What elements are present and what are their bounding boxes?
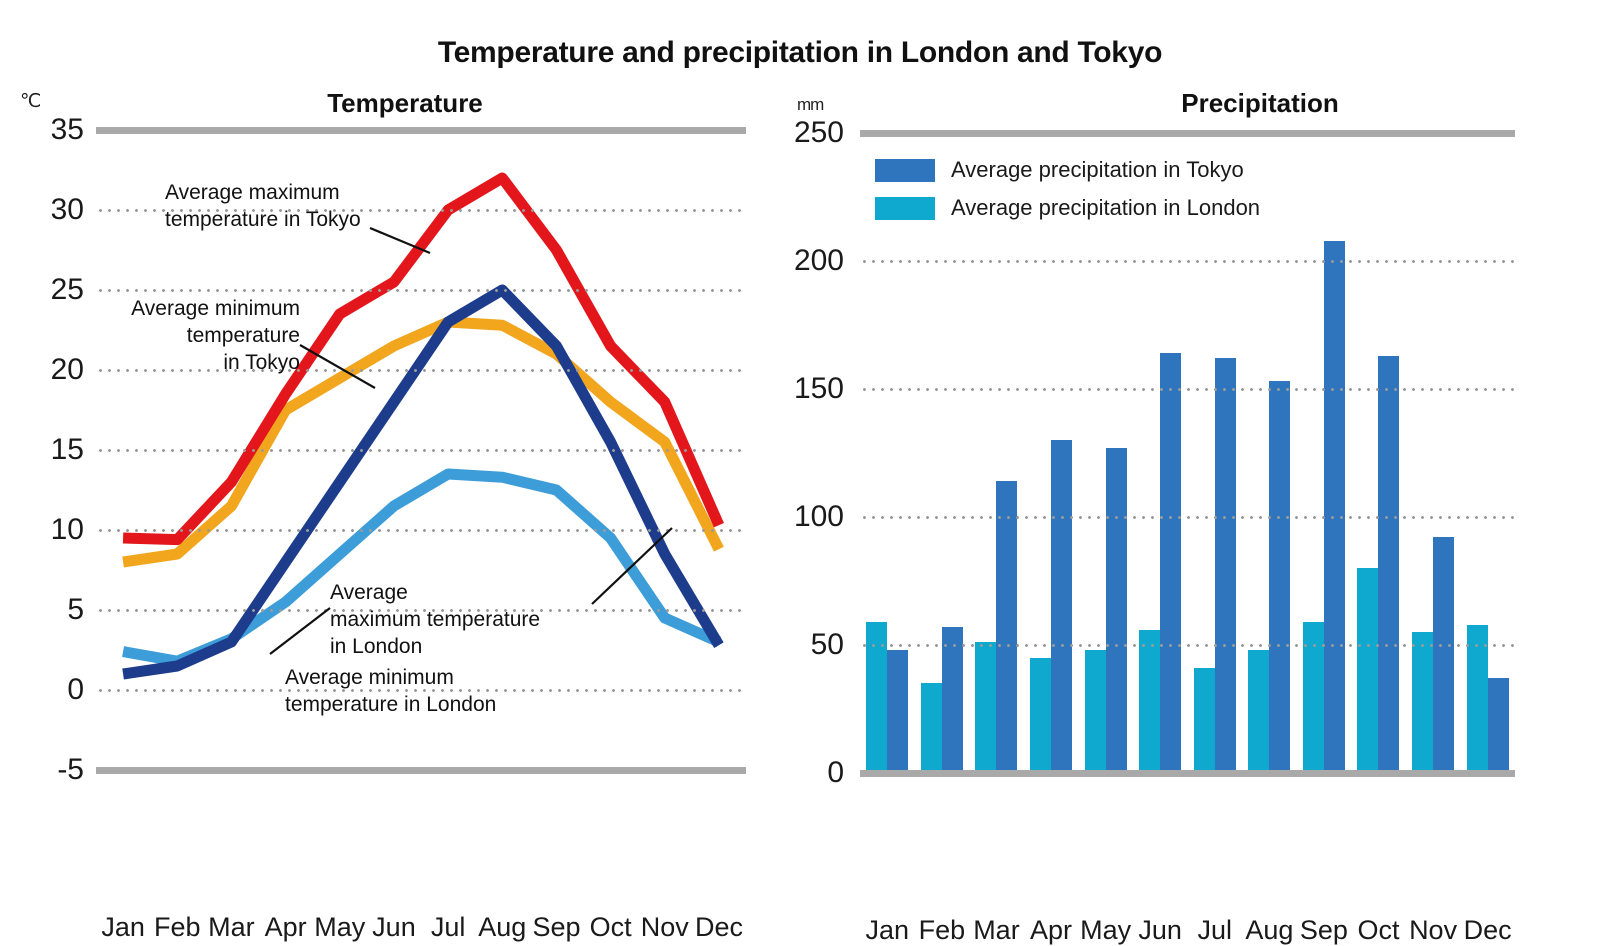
- bar-tokyo: [996, 481, 1017, 773]
- y-axis-tick-label: 150: [748, 372, 844, 406]
- precipitation-bars: [860, 133, 1515, 773]
- bar-london: [1139, 630, 1160, 773]
- x-axis-tick-label: Jul: [1187, 915, 1242, 946]
- bar-london: [975, 642, 996, 773]
- bar-london: [1030, 658, 1051, 773]
- y-axis-tick-label: 30: [10, 193, 84, 227]
- gridline: [96, 529, 746, 532]
- y-axis-tick-label: 0: [748, 756, 844, 790]
- y-axis-tick-label: 25: [10, 273, 84, 307]
- y-axis-tick-label: 0: [10, 673, 84, 707]
- x-axis-tick-label: Nov: [1406, 915, 1461, 946]
- gridline: [96, 449, 746, 452]
- x-axis-tick-label: Apr: [1024, 915, 1079, 946]
- x-axis-tick-label: Jun: [367, 912, 421, 943]
- y-axis-tick-label: 250: [748, 116, 844, 150]
- y-axis-tick-label: 20: [10, 353, 84, 387]
- x-axis-tick-label: Feb: [915, 915, 970, 946]
- x-axis-tick-label: Sep: [1297, 915, 1352, 946]
- gridline: [860, 260, 1515, 263]
- x-axis-tick-label: Jul: [421, 912, 475, 943]
- x-axis-tick-label: Apr: [259, 912, 313, 943]
- bar-tokyo: [942, 627, 963, 773]
- bar-london: [1194, 668, 1215, 773]
- bar-group: [1133, 133, 1188, 773]
- climate-chart-page: Temperature and precipitation in London …: [0, 0, 1600, 900]
- bar-group: [1024, 133, 1079, 773]
- axis-rule: [96, 127, 746, 134]
- precipitation-panel: mm Precipitation Average precipitation i…: [790, 0, 1600, 900]
- annotation-tokyo-max: Average maximum temperature in Tokyo: [165, 180, 361, 234]
- temperature-panel: ℃ Temperature JanFebMarAprMayJunJulAugSe…: [0, 0, 800, 900]
- bar-london: [921, 683, 942, 773]
- bar-tokyo: [1378, 356, 1399, 773]
- x-axis-tick-label: Mar: [969, 915, 1024, 946]
- x-axis-tick-label: Mar: [204, 912, 258, 943]
- bar-london: [1085, 650, 1106, 773]
- bar-london: [1357, 568, 1378, 773]
- x-axis-tick-label: Nov: [638, 912, 692, 943]
- x-axis-tick-label: May: [313, 912, 367, 943]
- precipitation-panel-title: Precipitation: [1020, 88, 1500, 119]
- x-axis-tick-label: Oct: [1351, 915, 1406, 946]
- y-axis-tick-label: -5: [10, 753, 84, 787]
- x-axis-tick-label: Aug: [1242, 915, 1297, 946]
- bar-london: [1412, 632, 1433, 773]
- bar-group: [969, 133, 1024, 773]
- gridline: [860, 388, 1515, 391]
- temperature-panel-title: Temperature: [170, 88, 640, 119]
- bar-group: [1187, 133, 1242, 773]
- gridline: [860, 644, 1515, 647]
- y-axis-tick-label: 10: [10, 513, 84, 547]
- gridline: [860, 516, 1515, 519]
- bar-tokyo: [1051, 440, 1072, 773]
- annotation-london-max: Average maximum temperature in London: [330, 580, 540, 661]
- bar-group: [1297, 133, 1352, 773]
- x-axis-tick-label: Jan: [96, 912, 150, 943]
- x-axis-tick-label: Aug: [475, 912, 529, 943]
- bar-group: [1406, 133, 1461, 773]
- annotation-tokyo-min: Average minimum temperature in Tokyo: [100, 296, 300, 377]
- y-axis-tick-label: 100: [748, 500, 844, 534]
- bar-tokyo: [1215, 358, 1236, 773]
- bar-group: [1242, 133, 1297, 773]
- bar-london: [1248, 650, 1269, 773]
- bar-group: [860, 133, 915, 773]
- temperature-unit-label: ℃: [20, 90, 41, 113]
- bar-tokyo: [1488, 678, 1509, 773]
- axis-rule: [860, 130, 1515, 137]
- y-axis-tick-label: 5: [10, 593, 84, 627]
- x-axis-tick-label: Dec: [1460, 915, 1515, 946]
- axis-rule: [96, 767, 746, 774]
- annotation-london-min: Average minimum temperature in London: [285, 665, 496, 719]
- bar-tokyo: [1433, 537, 1454, 773]
- x-axis-tick-label: Jun: [1133, 915, 1188, 946]
- bar-tokyo: [887, 650, 908, 773]
- x-axis-tick-label: Feb: [150, 912, 204, 943]
- y-axis-tick-label: 15: [10, 433, 84, 467]
- axis-rule: [860, 770, 1515, 777]
- x-axis-tick-label: May: [1078, 915, 1133, 946]
- bar-tokyo: [1160, 353, 1181, 773]
- bar-group: [1078, 133, 1133, 773]
- precipitation-unit-label: mm: [797, 95, 823, 115]
- x-axis-tick-label: Oct: [584, 912, 638, 943]
- y-axis-tick-label: 50: [748, 628, 844, 662]
- bar-group: [1351, 133, 1406, 773]
- temperature-x-axis-labels: JanFebMarAprMayJunJulAugSepOctNovDec: [96, 912, 746, 943]
- x-axis-tick-label: Dec: [692, 912, 746, 943]
- bar-tokyo: [1106, 448, 1127, 773]
- bar-tokyo: [1269, 381, 1290, 773]
- y-axis-tick-label: 200: [748, 244, 844, 278]
- precipitation-x-axis-labels: JanFebMarAprMayJunJulAugSepOctNovDec: [860, 915, 1515, 946]
- x-axis-tick-label: Sep: [529, 912, 583, 943]
- precipitation-plot-area: JanFebMarAprMayJunJulAugSepOctNovDec 250…: [860, 133, 1515, 773]
- bar-group: [1460, 133, 1515, 773]
- x-axis-tick-label: Jan: [860, 915, 915, 946]
- y-axis-tick-label: 35: [10, 113, 84, 147]
- gridline: [96, 289, 746, 292]
- bar-tokyo: [1324, 241, 1345, 773]
- bar-group: [915, 133, 970, 773]
